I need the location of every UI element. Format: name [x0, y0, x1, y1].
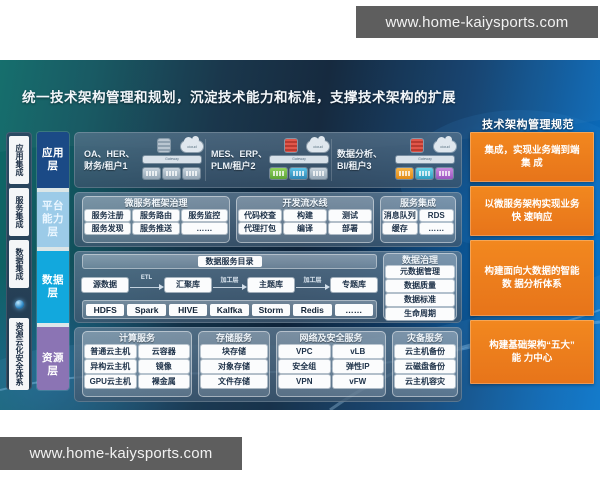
server-icon [411, 139, 423, 152]
group-title: 开发流水线 [236, 197, 374, 209]
tenant-label-line2: BI/租户3 [337, 160, 391, 172]
cell[interactable]: 数据标准 [386, 294, 454, 306]
group-title: 存储服务 [198, 332, 270, 344]
group-data-governance: 数据治理 元数据管理 数据质量 数据标准 生命周期 [383, 253, 457, 320]
globe-icon [9, 292, 29, 316]
rail-item-application-integration[interactable]: 应用集成 [9, 136, 29, 184]
cell[interactable]: 代码校查 [239, 210, 281, 221]
cell[interactable]: 测试 [329, 210, 371, 221]
cell[interactable]: 缓存 [383, 223, 417, 234]
cell[interactable]: 服务路由 [133, 210, 178, 221]
node-icon [310, 168, 327, 179]
cell[interactable]: 代理打包 [239, 223, 281, 234]
tenant-label-line1: OA、HER、 [84, 148, 138, 160]
cell[interactable]: 异构云主机 [85, 360, 136, 373]
watermark-top-right: www.home-kaiysports.com [356, 6, 598, 38]
cell[interactable]: 服务监控 [182, 210, 227, 221]
application-layer-band: OA、HER、 财务/租户1 cloud Gateway MES、ERP、 [74, 132, 462, 188]
cell[interactable]: 镜像 [139, 360, 190, 373]
cell[interactable]: 部署 [329, 223, 371, 234]
layer-name-column: 应用层 平台能力层 数据层 资源层 [37, 132, 69, 390]
cell[interactable]: 块存储 [201, 345, 267, 358]
tenant-node-row [270, 168, 328, 179]
callout-microservice[interactable]: 以微服务架构实现业务 快 速响应 [470, 186, 594, 236]
cell[interactable]: 文件存储 [201, 375, 267, 388]
page-title: 统一技术架构管理和规划，沉淀技术能力和标准，支撑技术架构的扩展 [22, 86, 456, 106]
group-disaster-recovery-services: 灾备服务 云主机备份 云磁盘备份 云主机容灾 [392, 331, 458, 397]
cell[interactable]: 服务注册 [85, 210, 130, 221]
pipeline-node-aggregate[interactable]: 汇聚库 [165, 278, 211, 292]
pipeline-arrow-label: 加工层 [294, 275, 331, 284]
cell[interactable]: 云磁盘备份 [395, 360, 455, 373]
server-icon [285, 139, 297, 152]
group-storage-services: 存储服务 块存储 对象存储 文件存储 [198, 331, 270, 397]
tech-chip-hdfs[interactable]: HDFS [86, 304, 124, 316]
cell[interactable]: 数据质量 [386, 280, 454, 292]
pipeline-arrow-process-2: 加工层 [294, 278, 331, 292]
group-compute-services: 计算服务 普通云主机 云容器 异构云主机 镜像 GPU云主机 裸金属 [82, 331, 192, 397]
architecture-slide: 统一技术架构管理和规划，沉淀技术能力和标准，支撑技术架构的扩展 技术架构管理规范… [0, 60, 600, 410]
group-service-integration: 服务集成 消息队列 RDS 缓存 …… [380, 196, 456, 243]
rail-item-resource-cloud-security[interactable]: 资源云化安全体系 [9, 318, 29, 390]
tenant-label: MES、ERP、 PLM/租户2 [211, 148, 265, 172]
tenant-topology-graphic: cloud Gateway [141, 138, 203, 182]
cell[interactable]: vLB [333, 345, 384, 358]
cloud-icon: cloud [307, 141, 329, 152]
tenant-group-1[interactable]: OA、HER、 财务/租户1 cloud Gateway [84, 136, 204, 184]
callout-infrastructure[interactable]: 构建基础架构“五大” 能 力中心 [470, 320, 594, 384]
callout-line1: 以微服务架构实现业务 [484, 198, 579, 211]
group-title: 灾备服务 [392, 332, 458, 344]
data-service-catalog-bar: 数据服务目录 [82, 254, 377, 269]
node-icon [183, 168, 200, 179]
server-icon [158, 139, 170, 152]
tenant-group-3[interactable]: 数据分析、 BI/租户3 cloud Gateway [337, 136, 459, 184]
integration-rail: 应用集成 服务集成 数据集成 资源云化安全体系 [6, 132, 32, 390]
pipeline-arrow-label: ETL [128, 275, 165, 281]
group-title: 数据治理 [383, 254, 457, 266]
tenant-label: OA、HER、 财务/租户1 [84, 148, 138, 172]
tech-chip-redis[interactable]: Redis [293, 304, 331, 316]
node-icon [270, 168, 287, 179]
group-title: 服务集成 [380, 197, 456, 209]
tech-chip-hive[interactable]: HIVE [169, 304, 207, 316]
group-title: 微服务框架治理 [82, 197, 230, 209]
tenant-label: 数据分析、 BI/租户3 [337, 148, 391, 172]
data-service-catalog-label[interactable]: 数据服务目录 [198, 256, 262, 267]
node-icon [290, 168, 307, 179]
cell[interactable]: 消息队列 [383, 210, 417, 221]
rail-item-data-integration[interactable]: 数据集成 [9, 240, 29, 288]
cell[interactable]: 云主机备份 [395, 345, 455, 358]
callout-line2: 数 据分析体系 [484, 278, 579, 291]
cell[interactable]: 云容器 [139, 345, 190, 358]
tech-chip-spark[interactable]: Spark [127, 304, 165, 316]
service-bus-bar: Gateway [270, 156, 328, 163]
tenant-topology-graphic: cloud Gateway [268, 138, 329, 182]
service-bus-bar: Gateway [143, 156, 201, 163]
pipeline-arrow-label: 加工层 [211, 275, 248, 284]
service-bus-bar: Gateway [396, 156, 454, 163]
node-icon [416, 168, 433, 179]
cloud-icon: cloud [181, 141, 203, 152]
data-tech-stack-bar: HDFS Spark HIVE Kalfka Storm Redis …… [82, 300, 377, 319]
node-icon [163, 168, 180, 179]
cell[interactable]: 普通云主机 [85, 345, 136, 358]
cell[interactable]: 编译 [284, 223, 326, 234]
callout-line1: 构建基础架构“五大” [489, 339, 575, 352]
cell[interactable]: 弹性IP [333, 360, 384, 373]
layer-label-platform[interactable]: 平台能力层 [37, 192, 69, 247]
cell[interactable]: 对象存储 [201, 360, 267, 373]
cell[interactable]: …… [420, 223, 454, 234]
callout-line2: 集 成 [484, 157, 579, 170]
cell[interactable]: RDS [420, 210, 454, 221]
pipeline-arrow-process-1: 加工层 [211, 278, 248, 292]
tenant-group-2[interactable]: MES、ERP、 PLM/租户2 cloud Gateway [211, 136, 329, 184]
callout-integration[interactable]: 集成，实现业务端到端 集 成 [470, 132, 594, 182]
callout-bigdata[interactable]: 构建面向大数据的智能 数 据分析体系 [470, 240, 594, 316]
pipeline-arrow-etl: ETL [128, 278, 165, 292]
pipeline-node-source[interactable]: 源数据 [82, 278, 128, 292]
layer-label-application[interactable]: 应用层 [37, 132, 69, 188]
group-title: 网络及安全服务 [276, 332, 386, 344]
cell[interactable]: 服务推送 [133, 223, 178, 234]
tenant-node-row [396, 168, 454, 179]
callout-line2: 能 力中心 [489, 352, 575, 365]
screenshot-root: www.home-kaiysports.com 统一技术架构管理和规划，沉淀技术… [0, 0, 600, 480]
data-pipeline: 源数据 ETL 汇聚库 加工层 主题库 加工层 专题库 [82, 274, 377, 296]
node-icon [396, 168, 413, 179]
callout-line1: 集成，实现业务端到端 [484, 144, 579, 157]
cell[interactable]: vFW [333, 375, 384, 388]
tenant-label-line1: MES、ERP、 [211, 148, 265, 160]
layer-label-resource[interactable]: 资源层 [37, 327, 69, 390]
rail-item-service-integration[interactable]: 服务集成 [9, 188, 29, 236]
tenant-label-line1: 数据分析、 [337, 148, 391, 160]
tenant-divider [331, 139, 332, 181]
cell[interactable]: 元数据管理 [386, 266, 454, 278]
cell[interactable]: 裸金属 [139, 375, 190, 388]
tenant-divider [205, 139, 206, 181]
cell[interactable]: 云主机容灾 [395, 375, 455, 388]
callout-line2: 快 速响应 [484, 211, 579, 224]
spec-panel-title: 技术架构管理规范 [482, 116, 574, 132]
tech-chip-kafka[interactable]: Kalfka [210, 304, 248, 316]
layer-label-data[interactable]: 数据层 [37, 251, 69, 323]
pipeline-node-thematic[interactable]: 专题库 [331, 278, 377, 292]
cell[interactable]: 生命周期 [386, 308, 454, 320]
cell[interactable]: …… [182, 223, 227, 234]
callout-line1: 构建面向大数据的智能 [484, 265, 579, 278]
cell[interactable]: VPN [279, 375, 330, 388]
cell[interactable]: GPU云主机 [85, 375, 136, 388]
node-icon [436, 168, 453, 179]
tenant-node-row [143, 168, 201, 179]
cloud-icon: cloud [434, 141, 456, 152]
group-devops-pipeline: 开发流水线 代码校查 构建 测试 代理打包 编译 部署 [236, 196, 374, 243]
tech-chip-more[interactable]: …… [335, 304, 373, 316]
cell[interactable]: VPC [279, 345, 330, 358]
tenant-label-line2: PLM/租户2 [211, 160, 265, 172]
group-microservice-governance: 微服务框架治理 服务注册 服务路由 服务监控 服务发现 服务推送 …… [82, 196, 230, 243]
group-title: 计算服务 [82, 332, 192, 344]
tech-chip-storm[interactable]: Storm [252, 304, 290, 316]
node-icon [143, 168, 160, 179]
tenant-topology-graphic: cloud Gateway [394, 138, 456, 182]
cell[interactable]: 服务发现 [85, 223, 130, 234]
watermark-bottom-left: www.home-kaiysports.com [0, 437, 242, 470]
tenant-label-line2: 财务/租户1 [84, 160, 138, 172]
cell[interactable]: 构建 [284, 210, 326, 221]
pipeline-node-subject[interactable]: 主题库 [248, 278, 294, 292]
group-network-security-services: 网络及安全服务 VPC vLB 安全组 弹性IP VPN vFW [276, 331, 386, 397]
cell[interactable]: 安全组 [279, 360, 330, 373]
